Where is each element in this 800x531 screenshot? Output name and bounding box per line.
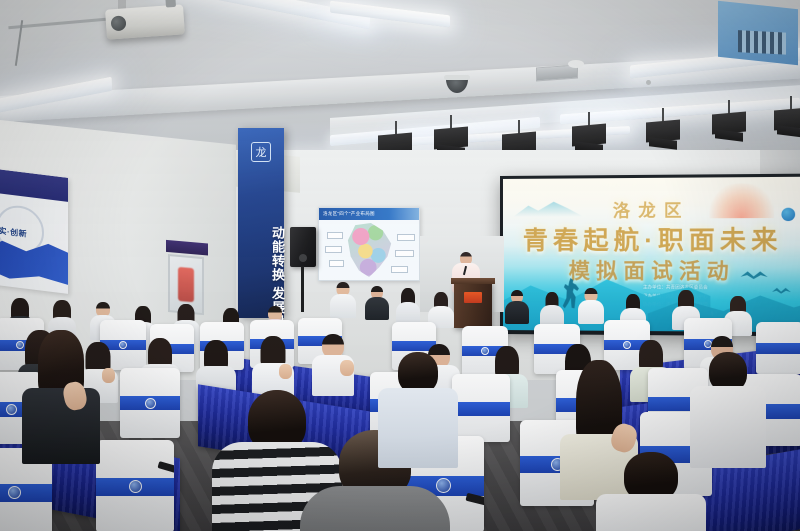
pa-speaker bbox=[290, 227, 316, 267]
chair-button bbox=[6, 404, 17, 415]
sprinkler-icon bbox=[646, 80, 651, 85]
person-body bbox=[300, 486, 450, 531]
conference-room-photo: 务实·创新 龙 动能转换 发展风口 洛龙区"四个"产业布局图 bbox=[0, 0, 800, 531]
air-conditioning-vent bbox=[718, 1, 798, 65]
audience-member bbox=[428, 292, 454, 324]
district-map-poster: 洛龙区"四个"产业布局图 bbox=[318, 207, 420, 281]
speaker-stand bbox=[301, 266, 304, 312]
hanging-spotlight bbox=[712, 112, 746, 135]
podium bbox=[454, 282, 492, 328]
ceiling-projector bbox=[105, 4, 185, 39]
hanging-spotlight bbox=[434, 127, 468, 150]
audience-member bbox=[540, 292, 564, 324]
district-map-graphic bbox=[347, 223, 393, 277]
person-body bbox=[365, 297, 389, 320]
map-callout bbox=[395, 250, 414, 257]
map-poster-header: 洛龙区"四个"产业布局图 bbox=[319, 208, 419, 220]
chair[interactable] bbox=[120, 368, 180, 438]
chair[interactable] bbox=[452, 374, 510, 442]
map-callout bbox=[327, 232, 343, 239]
vertical-banner: 龙 动能转换 发展风口 bbox=[238, 128, 284, 318]
audience-member bbox=[365, 286, 389, 318]
audience-member bbox=[578, 288, 604, 322]
map-callout bbox=[329, 260, 344, 267]
audience-member-foreground bbox=[596, 452, 706, 531]
clapping-hands bbox=[102, 368, 115, 383]
audience-member bbox=[252, 336, 294, 396]
person-body bbox=[578, 300, 604, 324]
podium-top bbox=[451, 278, 495, 284]
hanging-spotlight bbox=[572, 124, 606, 147]
clapping-hands bbox=[279, 364, 292, 379]
chair-button bbox=[119, 341, 127, 349]
audience-member bbox=[312, 334, 354, 394]
person-body bbox=[505, 301, 529, 324]
map-callout bbox=[325, 246, 342, 253]
chair-button bbox=[8, 486, 21, 499]
podium-emblem bbox=[464, 292, 482, 303]
banner-logo-icon: 龙 bbox=[251, 142, 271, 162]
chair[interactable] bbox=[96, 440, 174, 531]
fire-cabinet-label bbox=[166, 240, 208, 256]
person-body bbox=[378, 388, 458, 468]
fire-extinguisher-icon bbox=[178, 267, 194, 302]
audience-member bbox=[505, 290, 529, 322]
audience-member-foreground bbox=[22, 330, 100, 460]
map-callout bbox=[391, 266, 408, 273]
slide-title-line1: 洛龙区 bbox=[503, 195, 800, 222]
clapping-hands bbox=[340, 360, 354, 376]
chair-arm bbox=[157, 461, 174, 474]
chair-button bbox=[145, 398, 156, 409]
audience-member-foreground bbox=[378, 352, 458, 462]
slide-title-line2: 青春起航·职面未来 bbox=[503, 220, 800, 257]
person-body bbox=[22, 388, 100, 464]
hanging-spotlight bbox=[774, 108, 800, 131]
slide-title-line3: 模拟面试活动 bbox=[503, 255, 800, 286]
audience-member bbox=[330, 282, 356, 316]
bird-icon bbox=[772, 288, 791, 297]
person-body bbox=[396, 302, 420, 324]
smoke-detector-icon bbox=[568, 60, 584, 68]
audience-member bbox=[396, 288, 420, 320]
chair-button bbox=[129, 480, 142, 493]
map-callout bbox=[397, 234, 415, 241]
audience-member-foreground bbox=[690, 352, 766, 462]
wall-poster-left: 务实·创新 bbox=[0, 168, 68, 294]
hanging-spotlight bbox=[646, 120, 680, 143]
chair-band bbox=[452, 402, 510, 416]
person-body bbox=[596, 494, 706, 531]
person-body bbox=[330, 294, 356, 318]
